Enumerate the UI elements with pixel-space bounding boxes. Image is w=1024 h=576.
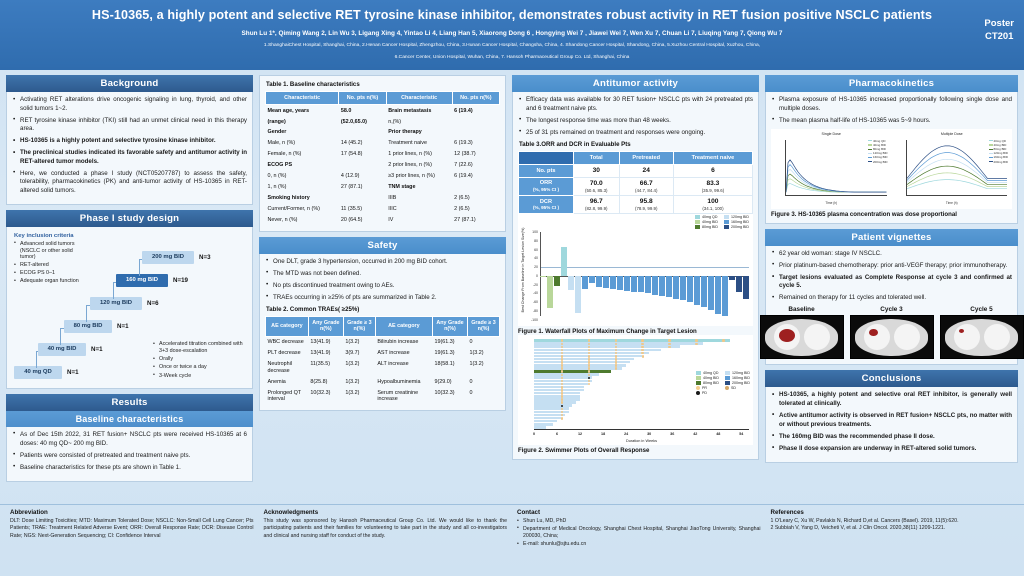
table1-cell: Male, n (%) <box>266 138 339 149</box>
footer-abbreviations: Abbreviation DLT: Dose Limiting Toxiciti… <box>10 509 254 572</box>
table2-caption: Table 2. Common TRAEs( ≥25%) <box>266 306 500 313</box>
table1-column-header: No. pts n(%) <box>452 92 499 105</box>
legend-swatch <box>695 225 700 229</box>
table2-cell: Bilirubin increase <box>375 336 432 347</box>
waterfall-bar-slot <box>540 232 546 316</box>
table1-column-header: Characteristic <box>386 92 452 105</box>
dose-level-box: 80 mg BID <box>64 320 112 333</box>
table2-cell: 1(3.2) <box>343 359 375 377</box>
safety-body: One DLT, grade 3 hypertension, occurred … <box>259 254 506 411</box>
waterfall-bar <box>540 276 546 277</box>
table3-cell: 95.8(78.9, 99.9) <box>619 196 673 214</box>
column-3: Antitumor activity Efficacy data was ava… <box>512 75 759 504</box>
table1-cell: 14 (45.2) <box>339 138 386 149</box>
table1-cell: (52.0,65.0) <box>339 116 386 127</box>
table2-cell: Hypoalbuminemia <box>375 377 432 388</box>
safety-bullet: No pts discontinued treatment owing to A… <box>265 282 500 291</box>
conclusion-bullet: Active antitumor activity is observed in… <box>771 412 1012 429</box>
table-row: CharacteristicNo. pts n(%)Characteristic… <box>266 92 500 105</box>
section-heading-safety: Safety <box>259 237 506 254</box>
waterfall-bar <box>729 276 735 280</box>
study-note-item: 3-Week cycle <box>153 373 245 380</box>
dose-level-n: N=1 <box>117 323 129 330</box>
table1-panel: Table 1. Baseline characteristics Charac… <box>259 75 506 232</box>
waterfall-y-tick: -20 <box>520 283 538 287</box>
ct-tumor-lesion <box>869 329 878 336</box>
table1-cell: 20 (64.5) <box>339 215 386 226</box>
vignette-bullet: 62 year old woman: stage IV NSCLC. <box>771 250 1012 259</box>
ct-scan-image <box>760 315 844 359</box>
table1-cell: IV <box>386 215 452 226</box>
waterfall-bar-slot <box>645 232 651 316</box>
swimmer-legend: 40mg QD120mg BID40mg BID160mg BID80mg BI… <box>696 371 750 395</box>
waterfall-plot-area: 100806040200-20-40-60-80-100 <box>540 232 749 316</box>
waterfall-bar-slot <box>743 232 749 316</box>
table1-column-header: No. pts n(%) <box>339 92 386 105</box>
section-results: Results Baseline characteristics As of D… <box>6 394 253 482</box>
waterfall-bar <box>652 276 658 295</box>
legend-swatch <box>724 215 729 219</box>
waterfall-bar <box>645 276 651 293</box>
table2-cell: 11(35.5) <box>308 359 343 377</box>
swimmer-bar <box>534 426 546 429</box>
waterfall-bar-slot <box>561 232 567 316</box>
table1-cell: 2 (6.5) <box>452 204 499 215</box>
table-row: ECOG PS2 prior lines, n (%)7 (22.6) <box>266 160 500 171</box>
waterfall-bar-slot <box>617 232 623 316</box>
table1-cell: Female, n (%) <box>266 149 339 160</box>
table-row: Neutrophil decrease11(35.5)1(3.2)ALT inc… <box>266 359 500 377</box>
footer-acknowledgments-title: Acknowledgments <box>264 509 508 516</box>
pk-series-line <box>786 160 887 192</box>
reference-item: 2 Subbiah V, Yang D, Veicheti V, et al. … <box>771 525 1015 532</box>
table1-cell: 58.0 <box>339 105 386 116</box>
figure1-caption: Figure 1. Waterfall Plots of Maximum Cha… <box>518 328 753 335</box>
waterfall-bar <box>596 276 602 287</box>
waterfall-bar-slot <box>631 232 637 316</box>
waterfall-y-tick: -100 <box>520 318 538 322</box>
section-study-design: Phase I study design Key inclusion crite… <box>6 210 253 389</box>
table1-cell: 27 (87.1) <box>339 182 386 193</box>
table1-cell: 17 (54.8) <box>339 149 386 160</box>
table1-cell: Gender <box>266 127 339 138</box>
table2-cell: WBC decrease <box>266 336 309 347</box>
results-bullet: Baseline characteristics for these pts a… <box>12 464 247 473</box>
section-conclusions: Conclusions HS-10365, a highly potent an… <box>765 370 1018 462</box>
legend-item: 120mg BID <box>725 371 750 375</box>
waterfall-bar <box>666 276 672 297</box>
legend-swatch <box>696 371 701 375</box>
swimmer-response-marker <box>615 367 618 370</box>
contact-item: E-mail: shunlu@sjtu.edu.cn <box>517 541 761 548</box>
table2-cell: 0 <box>468 387 500 405</box>
table2-cell: 9(29.0) <box>432 377 467 388</box>
section-antitumor: Antitumor activity Efficacy data was ava… <box>512 75 759 460</box>
table3-cell: 70.0(50.6, 85.3) <box>573 177 619 195</box>
footer-contact-title: Contact <box>517 509 761 516</box>
affiliations-line-2: 6.Cancer Center, Union Hospital, Wuhan, … <box>8 54 1016 61</box>
conclusion-bullet: HS-10365, a highly potent and selective … <box>771 391 1012 408</box>
table3-column-header: Treatment naive <box>673 151 752 164</box>
pk-chart-multiple-dose: Multiple Dose 40mg QD40mg BID80mg BID120… <box>894 132 1011 206</box>
swimmer-response-marker <box>588 383 591 386</box>
table2-cell: 1(3.2) <box>468 348 500 359</box>
legend-item: SD <box>725 386 750 390</box>
waterfall-bar <box>687 276 693 302</box>
table-row: Female, n (%)17 (54.8)1 prior lines, n (… <box>266 149 500 160</box>
table2-cell: 18(58.1) <box>432 359 467 377</box>
waterfall-bar-slot <box>624 232 630 316</box>
waterfall-y-tick: -40 <box>520 291 538 295</box>
poster-header: HS-10365, a highly potent and selective … <box>0 0 1024 70</box>
key-inclusion-criteria: Key inclusion criteria Advanced solid tu… <box>14 233 88 286</box>
poster-footer: Abbreviation DLT: Dose Limiting Toxiciti… <box>0 504 1024 576</box>
study-notes: Accelerated titration combined with 3+3 … <box>153 341 245 381</box>
conclusions-body: HS-10365, a highly potent and selective … <box>765 387 1018 462</box>
waterfall-bar-slot <box>722 232 728 316</box>
table1-cell: n,(%) <box>386 116 452 127</box>
pk-legend-label: 200mg BID <box>873 160 887 164</box>
vignette-bullet: Remained on therapy for 11 cycles and to… <box>771 294 1012 303</box>
table1-cell: 1 prior lines, n (%) <box>386 149 452 160</box>
pk-charts: Single Dose 40mg QD40mg BID80mg BID120mg… <box>771 129 1012 209</box>
section-pharmacokinetics: Pharmacokinetics Plasma exposure of HS-1… <box>765 75 1018 224</box>
section-heading-results: Results <box>6 394 253 411</box>
results-body: As of Dec 15th 2022, 31 RET fusion+ NSCL… <box>6 427 253 482</box>
waterfall-bar-slot <box>694 232 700 316</box>
table3-cell: 6 <box>673 165 752 178</box>
table-row: GenderPrior therapy <box>266 127 500 138</box>
table2-cell: 0 <box>468 336 500 347</box>
table-common-traes: AE categoryAny Grade n(%)Grade ≥ 3 n(%)A… <box>265 316 500 405</box>
dose-escalation-diagram: Key inclusion criteria Advanced solid tu… <box>12 231 247 383</box>
waterfall-bar-slot <box>603 232 609 316</box>
table-row: Mean age, years58.0Brain metastasis6 (19… <box>266 105 500 116</box>
poster-label: Poster <box>984 18 1014 31</box>
table2-column-header: AE category <box>266 316 309 336</box>
table1-cell: 2 (6.5) <box>452 193 499 204</box>
waterfall-bar-slot <box>680 232 686 316</box>
results-bullet: As of Dec 15th 2022, 31 RET fusion+ NSCL… <box>12 431 247 448</box>
poster-root: HS-10365, a highly potent and selective … <box>0 0 1024 576</box>
table2-cell: PLT decrease <box>266 348 309 359</box>
swimmer-x-tick: 30 <box>647 432 651 436</box>
table1-column-header: Characteristic <box>266 92 339 105</box>
legend-swatch <box>696 391 700 395</box>
ct-scan-item: Baseline <box>760 306 844 359</box>
table1-cell <box>452 127 499 138</box>
criteria-item: RET-altered <box>14 262 88 269</box>
study-design-body: Key inclusion criteria Advanced solid tu… <box>6 227 253 389</box>
table2-column-header: Grade ≥ 3 n(%) <box>343 316 375 336</box>
legend-item: 200mg BID <box>725 381 750 385</box>
table2-cell: Serum creatinine increase <box>375 387 432 405</box>
pk-legend-label: 200mg BID <box>994 160 1008 164</box>
legend-swatch <box>725 386 729 390</box>
swimmer-x-tick: 18 <box>601 432 605 436</box>
legend-swatch <box>724 220 729 224</box>
pk-multiple-dose-legend: 40mg QD40mg BID80mg BID120mg BID160mg BI… <box>989 139 1008 164</box>
section-heading-background: Background <box>6 75 253 92</box>
results-bullet-list: As of Dec 15th 2022, 31 RET fusion+ NSCL… <box>12 431 247 472</box>
waterfall-bar <box>582 276 588 290</box>
waterfall-y-tick: 20 <box>520 265 538 269</box>
waterfall-bar-slot <box>715 232 721 316</box>
legend-item: 40mg BID <box>696 376 719 380</box>
conclusions-bullet-list: HS-10365, a highly potent and selective … <box>771 391 1012 453</box>
section-background: Background Activating RET alterations dr… <box>6 75 253 205</box>
background-body: Activating RET alterations drive oncogen… <box>6 92 253 205</box>
section-vignettes: Patient vignettes 62 year old woman: sta… <box>765 229 1018 366</box>
legend-swatch <box>696 381 701 385</box>
criteria-item: ECOG PS 0–1 <box>14 270 88 277</box>
pk-series-line <box>907 166 1008 184</box>
swimmer-x-tick: 12 <box>578 432 582 436</box>
swimmer-x-tick: 6 <box>556 432 558 436</box>
legend-item: PD <box>696 391 719 395</box>
legend-label: 160mg BID <box>732 376 750 380</box>
table2-column-header: Grade ≥ 3 n(%) <box>468 316 500 336</box>
table-row: Smoking historyIIIB2 (6.5) <box>266 193 500 204</box>
waterfall-bar <box>617 276 623 290</box>
table-row: TotalPretreatedTreatment naive <box>519 151 753 164</box>
ct-scan-image <box>940 315 1024 359</box>
conclusion-bullet: Phase II dose expansion are underway in … <box>771 445 1012 454</box>
legend-label: 120mg BID <box>732 371 750 375</box>
table2-cell: 13(41.9) <box>308 348 343 359</box>
waterfall-bar-slot <box>736 232 742 316</box>
pk-bullet: The mean plasma half-life of HS-10365 wa… <box>771 117 1012 126</box>
waterfall-bar <box>673 276 679 299</box>
table1-cell: Current/Former, n (%) <box>266 204 339 215</box>
waterfall-bar-slot <box>708 232 714 316</box>
ct-lung-field <box>954 324 980 350</box>
waterfall-bar <box>659 276 665 296</box>
safety-bullet: TRAEs occurring in ≥25% of pts are summa… <box>265 294 500 303</box>
page-title: HS-10365, a highly potent and selective … <box>8 5 1016 23</box>
table-baseline-characteristics: CharacteristicNo. pts n(%)Characteristic… <box>265 91 500 226</box>
ct-scan-caption: Cycle 5 <box>940 306 1024 313</box>
pk-series-line <box>786 169 887 192</box>
table1-cell: 7 (22.6) <box>452 160 499 171</box>
section-heading-pharmacokinetics: Pharmacokinetics <box>765 75 1018 92</box>
table-row: No. pts30246 <box>519 165 753 178</box>
study-note-item: Orally <box>153 356 245 363</box>
table2-cell: ALT increase <box>375 359 432 377</box>
footer-acknowledgments: Acknowledgments This study was sponsored… <box>264 509 508 572</box>
conclusion-bullet: The 160mg BID was the recommended phase … <box>771 433 1012 442</box>
poster-number: CT201 <box>984 31 1014 44</box>
legend-swatch <box>725 381 730 385</box>
table1-cell: 12 (38.7) <box>452 149 499 160</box>
legend-label: 40mg BID <box>703 376 719 380</box>
pharmacokinetics-body: Plasma exposure of HS-10365 increased pr… <box>765 92 1018 224</box>
table3-column-header <box>519 151 574 164</box>
waterfall-y-tick: 40 <box>520 256 538 260</box>
table-row: Male, n (%)14 (45.2)Treatment naive6 (19… <box>266 138 500 149</box>
table-row: Never, n (%)20 (64.5)IV27 (87.1) <box>266 215 500 226</box>
swimmer-response-marker <box>642 355 645 358</box>
legend-label: 40mg BID <box>702 220 718 224</box>
table2-cell: 19(61.3) <box>432 348 467 359</box>
table2-cell: 1(3.2) <box>343 336 375 347</box>
swimmer-x-tick: 54 <box>739 432 743 436</box>
footer-contact-list: Shun Lu, MD, PhDDepartment of Medical On… <box>517 518 761 549</box>
table-row: Prolonged QT interval10(32.3)1(3.2)Serum… <box>266 387 500 405</box>
table-row: DCR(%, 95% CI )96.7(82.8, 99.9)95.8(78.9… <box>519 196 753 214</box>
pk-chart-single-dose: Single Dose 40mg QD40mg BID80mg BID120mg… <box>773 132 890 206</box>
dose-level-box: 40 mg BID <box>38 343 86 356</box>
study-notes-list: Accelerated titration combined with 3+3 … <box>153 341 245 379</box>
table-row: Current/Former, n (%)11 (35.5)IIIC2 (6.5… <box>266 204 500 215</box>
table1-cell: 0, n (%) <box>266 171 339 182</box>
table2-cell: 1(3.2) <box>343 387 375 405</box>
table-row: AE categoryAny Grade n(%)Grade ≥ 3 n(%)A… <box>266 316 500 336</box>
swimmer-x-axis <box>534 429 749 430</box>
waterfall-bar <box>715 276 721 314</box>
table3-caption: Table 3.ORR and DCR in Evaluable Pts <box>519 141 753 148</box>
legend-swatch <box>725 376 730 380</box>
table-orr-dcr: TotalPretreatedTreatment naive No. pts30… <box>518 151 753 215</box>
background-bullet: Activating RET alterations drive oncogen… <box>12 96 247 113</box>
antitumor-bullet: Efficacy data was available for 30 RET f… <box>518 96 753 113</box>
swimmer-response-marker <box>561 417 564 420</box>
table1-cell: Brain metastasis <box>386 105 452 116</box>
table-row: 0, n (%)4 (12.9)≥3 prior lines, n (%)6 (… <box>266 171 500 182</box>
table2-cell: 13(41.9) <box>308 336 343 347</box>
table2-column-header: Any Grade n(%) <box>308 316 343 336</box>
table2-cell: 1(3.2) <box>343 377 375 388</box>
section-subheading-baseline: Baseline characteristics <box>6 411 253 427</box>
table3-column-header: Pretreated <box>619 151 673 164</box>
dose-level-box: 160 mg BID <box>116 274 168 287</box>
waterfall-bar-slot <box>610 232 616 316</box>
legend-label: 80mg BID <box>702 225 718 229</box>
legend-label: PD <box>702 391 707 395</box>
ct-lung-field <box>984 324 1010 350</box>
legend-label: 200mg BID <box>731 225 749 229</box>
legend-item: PR <box>696 386 719 390</box>
pk-single-dose-title: Single Dose <box>773 132 890 136</box>
waterfall-bar <box>701 276 707 307</box>
criteria-item: Advanced solid tumors (NSCLC or other so… <box>14 241 88 261</box>
antitumor-bullet-list: Efficacy data was available for 30 RET f… <box>518 96 753 137</box>
waterfall-bar <box>694 276 700 305</box>
swimmer-response-marker <box>668 346 671 349</box>
dose-level-n: N=1 <box>67 369 79 376</box>
waterfall-bar <box>708 276 714 310</box>
swimmer-x-axis-label: Duration in Weeks <box>626 439 657 443</box>
ct-scan-caption: Baseline <box>760 306 844 313</box>
antitumor-bullet: 25 of 31 pts remained on treatment and r… <box>518 129 753 138</box>
table1-cell: Treatment naive <box>386 138 452 149</box>
footer-references-title: References <box>771 509 1015 516</box>
legend-item: 120mg BID <box>724 215 749 219</box>
table1-cell: Smoking history <box>266 193 339 204</box>
swimmer-chart: Duration in Weeks 061218243036424854 40m… <box>518 335 753 445</box>
waterfall-chart: Best Change From Baseline in Target Lesi… <box>518 214 753 326</box>
dose-level-box: 120 mg BID <box>90 297 142 310</box>
waterfall-bar-slot <box>666 232 672 316</box>
footer-references: References 1 O'Leary C, Xu W, Pavlakis N… <box>771 509 1015 572</box>
table1-caption: Table 1. Baseline characteristics <box>266 81 500 88</box>
ct-lung-field <box>864 324 890 350</box>
waterfall-bar <box>638 276 644 293</box>
pk-single-dose-x-label: Time (h) <box>825 201 837 205</box>
legend-swatch <box>696 386 700 390</box>
table1-cell: 11 (35.5) <box>339 204 386 215</box>
waterfall-legend: 40mg QD120mg BID40mg BID160mg BID80mg BI… <box>695 215 749 229</box>
table-row: PLT decrease13(41.9)3(9.7)AST increase19… <box>266 348 500 359</box>
waterfall-bar-slot <box>589 232 595 316</box>
ct-scan-row: BaselineCycle 3Cycle 5 <box>771 306 1012 359</box>
dose-level-n: N=1 <box>91 346 103 353</box>
pk-series-line <box>907 179 1008 188</box>
table2-cell: 3(9.7) <box>343 348 375 359</box>
table3-cell: 30 <box>573 165 619 178</box>
affiliations-line-1: 1.ShanghaiChest Hospital, Shanghai, Chin… <box>8 42 1016 49</box>
study-note-item: Once or twice a day <box>153 364 245 371</box>
legend-label: 200mg BID <box>732 381 750 385</box>
vignettes-bullet-list: 62 year old woman: stage IV NSCLC.Prior … <box>771 250 1012 303</box>
column-2: Table 1. Baseline characteristics Charac… <box>259 75 506 504</box>
antitumor-body: Efficacy data was available for 30 RET f… <box>512 92 759 460</box>
waterfall-y-tick: -80 <box>520 309 538 313</box>
legend-swatch <box>696 376 701 380</box>
column-4: Pharmacokinetics Plasma exposure of HS-1… <box>765 75 1018 504</box>
waterfall-bar-slot <box>687 232 693 316</box>
ct-lung-field <box>804 324 830 350</box>
waterfall-bar-slot <box>554 232 560 316</box>
table1-cell: (range) <box>266 116 339 127</box>
footer-acknowledgments-text: This study was sponsored by Hansoh Pharm… <box>264 518 508 540</box>
table-row: Anemia8(25.8)1(3.2)Hypoalbuminemia9(29.0… <box>266 377 500 388</box>
table-row: WBC decrease13(41.9)1(3.2)Bilirubin incr… <box>266 336 500 347</box>
vignettes-body: 62 year old woman: stage IV NSCLC.Prior … <box>765 246 1018 366</box>
waterfall-bar <box>680 276 686 300</box>
legend-item: 40mg QD <box>696 371 719 375</box>
reference-item: 1 O'Leary C, Xu W, Pavlakis N, Richard D… <box>771 518 1015 525</box>
footer-contact: Contact Shun Lu, MD, PhDDepartment of Me… <box>517 509 761 572</box>
table-row: 1, n (%)27 (87.1)TNM stage <box>266 182 500 193</box>
waterfall-bar-slot <box>701 232 707 316</box>
background-bullet: RET tyrosine kinase inhibitor (TKI) stil… <box>12 117 247 134</box>
table1-cell: 6 (19.3) <box>452 138 499 149</box>
legend-swatch <box>724 225 729 229</box>
table1-cell <box>339 127 386 138</box>
section-heading-vignettes: Patient vignettes <box>765 229 1018 246</box>
criteria-item: Adequate organ function <box>14 278 88 285</box>
footer-abbreviations-title: Abbreviation <box>10 509 254 516</box>
table1-cell: 6 (19.4) <box>452 171 499 182</box>
ct-scan-image <box>850 315 934 359</box>
pk-single-dose-legend: 40mg QD40mg BID80mg BID120mg BID160mg BI… <box>868 139 887 164</box>
waterfall-y-tick: -60 <box>520 300 538 304</box>
table2-cell: 1(3.2) <box>468 359 500 377</box>
dose-level-box: 40 mg QD <box>14 366 62 379</box>
pk-bullet-list: Plasma exposure of HS-10365 increased pr… <box>771 96 1012 125</box>
table-row: (range)(52.0,65.0)n,(%) <box>266 116 500 127</box>
table1-cell: TNM stage <box>386 182 452 193</box>
background-bullet-list: Activating RET alterations drive oncogen… <box>12 96 247 195</box>
table2-column-header: AE category <box>375 316 432 336</box>
legend-label: 40mg QD <box>703 371 718 375</box>
table1-cell <box>452 182 499 193</box>
waterfall-y-tick: 80 <box>520 239 538 243</box>
legend-item: 200mg BID <box>724 225 749 229</box>
author-list: Shun Lu 1*, Qiming Wang 2, Lin Wu 3, Lig… <box>8 30 1016 38</box>
safety-bullet: One DLT, grade 3 hypertension, occurred … <box>265 258 500 267</box>
